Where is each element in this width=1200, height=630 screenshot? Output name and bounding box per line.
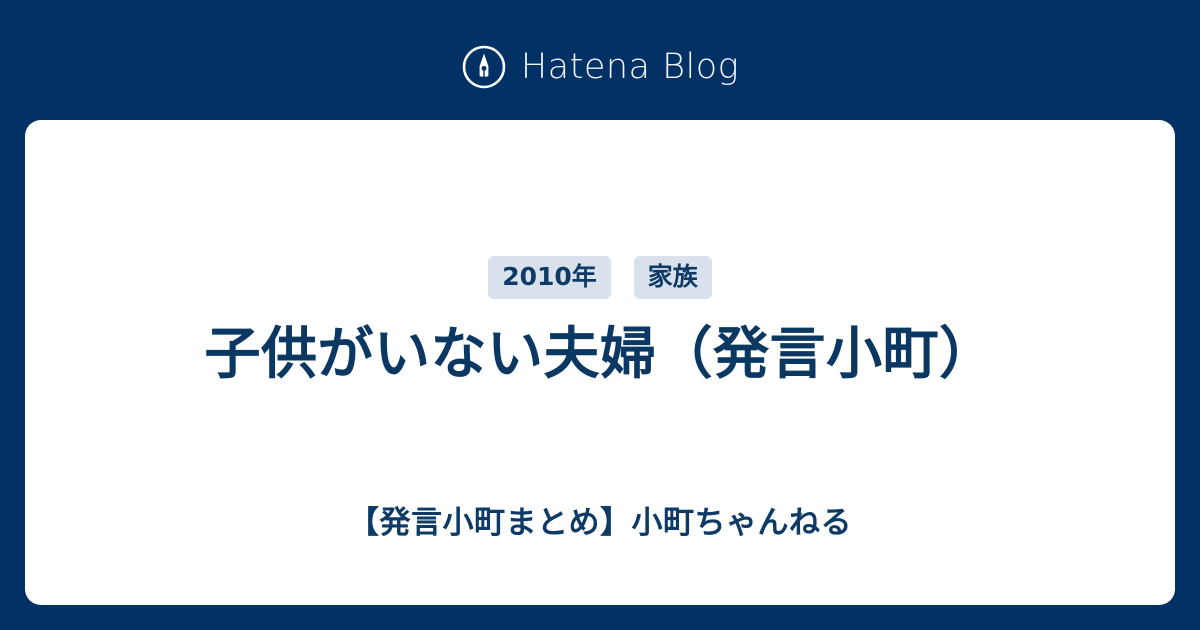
hatena-blog-brand: Hatena Blog [0, 38, 1200, 96]
tag-item-year[interactable]: 2010年 [488, 256, 611, 299]
brand-name-text: Hatena Blog [521, 50, 739, 85]
blog-name: 【発言小町まとめ】小町ちゃんねる [65, 503, 1135, 543]
pen-nib-circle-icon [461, 44, 507, 90]
ogp-card-root: Hatena Blog 2010年 家族 子供がいない夫婦（発言小町） 【発言小… [0, 0, 1200, 630]
tag-list: 2010年 家族 [25, 256, 1175, 299]
tag-item-category[interactable]: 家族 [634, 256, 712, 299]
entry-title: 子供がいない夫婦（発言小町） [65, 320, 1135, 390]
entry-card: 2010年 家族 子供がいない夫婦（発言小町） 【発言小町まとめ】小町ちゃんねる [25, 120, 1175, 605]
